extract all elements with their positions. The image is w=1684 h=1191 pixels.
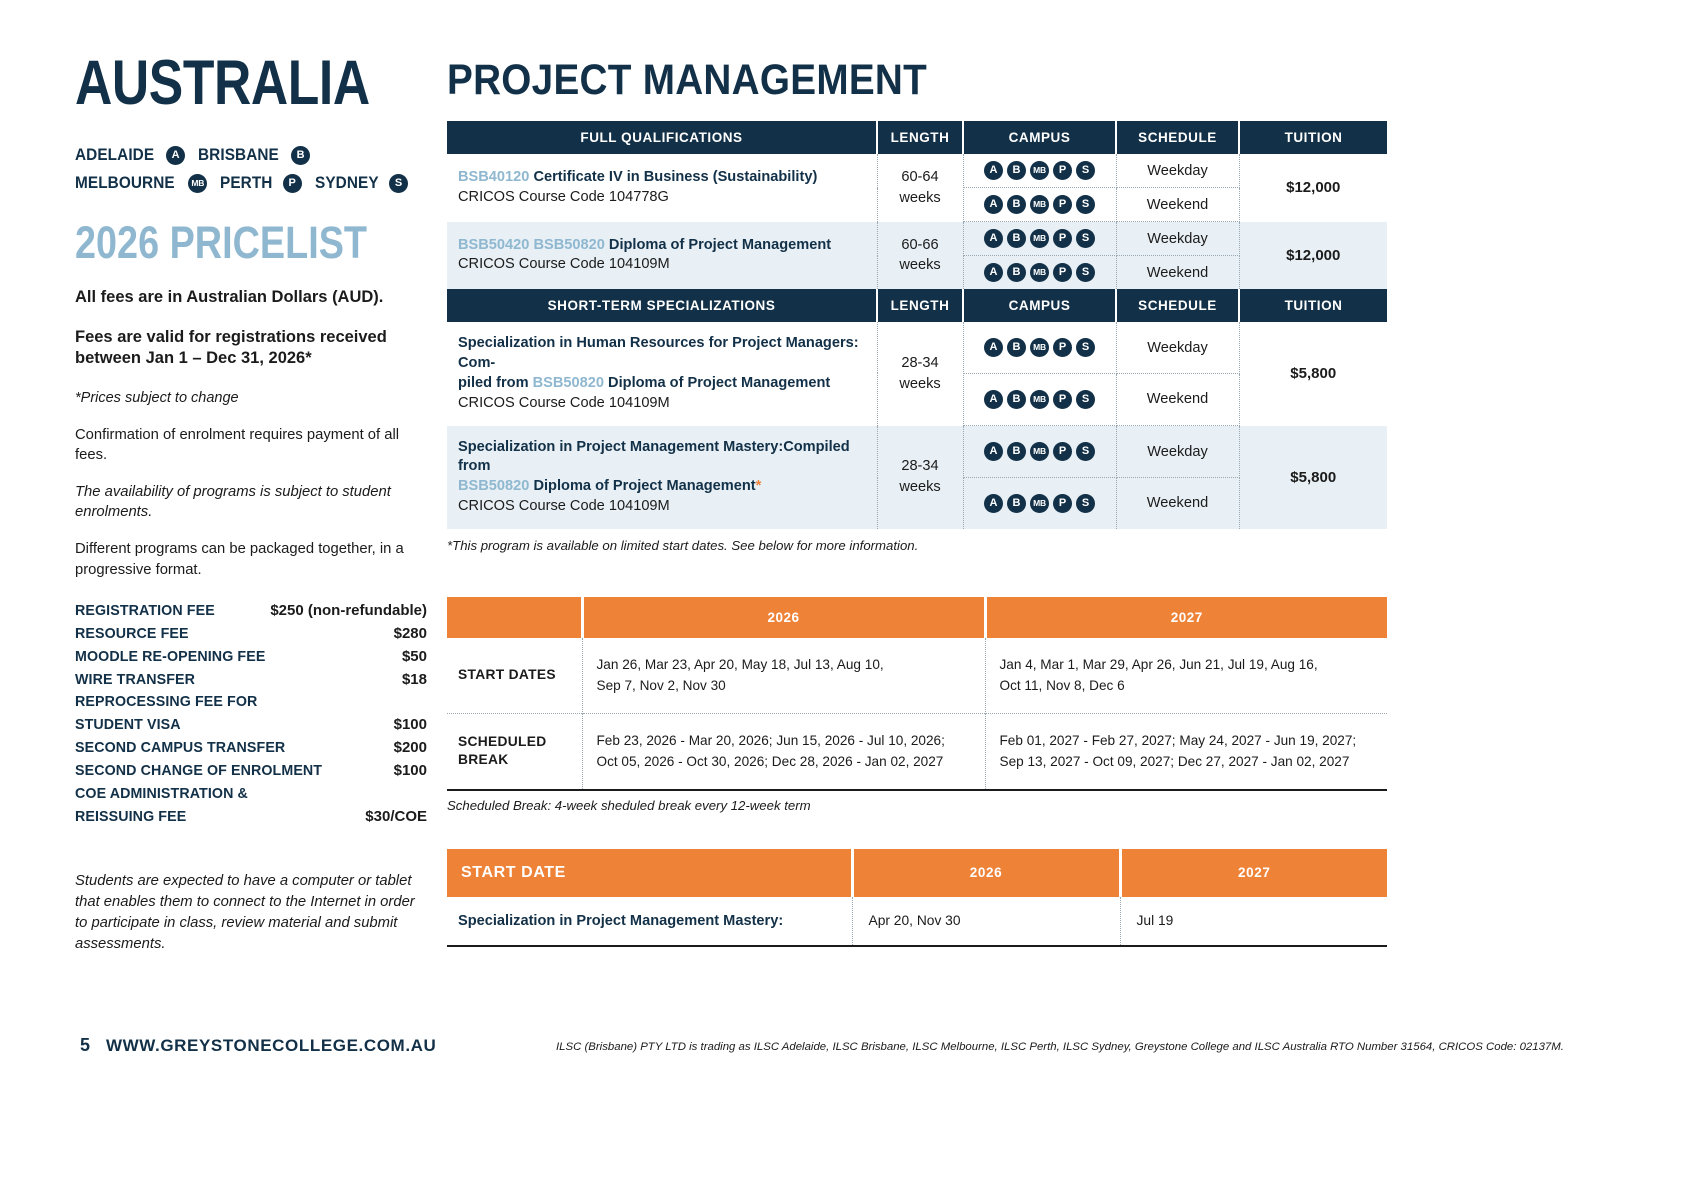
brisbane-badge-icon: B [1007,229,1026,248]
course-length-cell: 60-66 weeks [877,222,963,290]
brisbane-badge-icon: B [1007,442,1026,461]
date-line-1: Feb 01, 2027 - Feb 27, 2027; May 24, 202… [1000,730,1378,751]
spec-title-suffix: Diploma of Project Management [604,375,830,391]
course-length-cell: 60-64 weeks [877,154,963,222]
course-code: BSB50820 [458,478,529,494]
short-term-specializations-table: SHORT-TERM SPECIALIZATIONS LENGTH CAMPUS… [447,289,1387,529]
perth-badge-icon: P [1053,390,1072,409]
course-length-cell: 28-34 weeks [877,322,963,425]
table-row: BSB50420 BSB50820 Diploma of Project Man… [447,222,1387,256]
brisbane-badge-icon: B [1007,195,1026,214]
fee-row: COE ADMINISTRATION & [75,783,427,806]
adelaide-badge-icon: A [984,229,1003,248]
campus-cell: A B MB P S [963,426,1116,478]
table-header-row: FULL QUALIFICATIONS LENGTH CAMPUS SCHEDU… [447,121,1387,154]
adelaide-badge-icon: A [984,442,1003,461]
fee-row: STUDENT VISA $100 [75,714,427,737]
sydney-badge-icon: S [1076,161,1095,180]
course-code: BSB40120 [458,169,529,185]
melbourne-badge-icon: MB [1030,229,1049,248]
campus-badge-group: A B MB P S [968,195,1112,214]
scheduled-break-2026: Feb 23, 2026 - Mar 20, 2026; Jun 15, 202… [582,713,985,789]
fee-label: WIRE TRANSFER [75,669,195,692]
spec-title-line-2: BSB50820 Diploma of Project Management* [458,477,877,497]
adelaide-badge-icon: A [984,195,1003,214]
program-title: PROJECT MANAGEMENT [447,58,1293,103]
header-tuition: TUITION [1239,121,1387,154]
length-unit: weeks [878,477,963,498]
date-line-1: Jan 26, Mar 23, Apr 20, May 18, Jul 13, … [597,654,975,675]
currency-statement: All fees are in Australian Dollars (AUD)… [75,287,435,309]
startdate-header-2026: 2026 [852,849,1120,897]
fee-value: $100 [394,714,427,737]
perth-badge-icon: P [1053,161,1072,180]
cricos-code: CRICOS Course Code 104109M [458,394,877,414]
campus-cell: A B MB P S [963,222,1116,256]
table-row-scheduled-break: SCHEDULED BREAK Feb 23, 2026 - Mar 20, 2… [447,713,1387,789]
header-campus: CAMPUS [963,121,1116,154]
course-title-line: BSB40120 Certificate IV in Business (Sus… [458,168,877,188]
legal-disclaimer: ILSC (Brisbane) PTY LTD is trading as IL… [556,1040,1616,1055]
campus-badge-group: A B MB P S [968,442,1112,461]
scheduled-break-note: Scheduled Break: 4-week sheduled break e… [447,798,1387,813]
length-value: 28-34 [878,353,963,374]
spec-title-line-2: piled from BSB50820 Diploma of Project M… [458,374,877,394]
campus-badge-group: A B MB P S [968,390,1112,409]
perth-badge-icon: P [1053,442,1072,461]
pricelist-year-title: 2026 PRICELIST [75,220,377,265]
scheduled-break-2027: Feb 01, 2027 - Feb 27, 2027; May 24, 202… [985,713,1387,789]
footer-left-group: 5 WWW.GREYSTONECOLLEGE.COM.AU [80,1035,436,1056]
melbourne-badge-icon: MB [1030,195,1049,214]
fee-label: COE ADMINISTRATION & [75,783,248,806]
header-length: LENGTH [877,289,963,322]
campus-badge-group: A B MB P S [968,338,1112,357]
campus-cell: A B MB P S [963,373,1116,425]
perth-badge-icon: P [1053,494,1072,513]
brisbane-badge-icon: B [1007,390,1026,409]
campus-cell: A B MB P S [963,256,1116,290]
length-value: 60-66 [878,235,963,256]
fee-row: WIRE TRANSFER $18 [75,669,427,692]
campus-badge-group: A B MB P S [968,263,1112,282]
course-code: BSB50420 BSB50820 [458,237,605,253]
fee-value: $100 [394,760,427,783]
length-unit: weeks [878,188,963,209]
campus-legend: ADELAIDE A BRISBANE B MELBOURNE MB PERTH… [75,141,435,198]
melbourne-badge-icon: MB [1030,494,1049,513]
row-label-line-1: START DATES [458,666,582,684]
campus-legend-sydney: SYDNEY S [315,169,408,197]
table-row: Specialization in Project Management Mas… [447,897,1387,946]
fee-row: REGISTRATION FEE $250 (non-refundable) [75,600,427,623]
course-code: BSB50820 [533,375,604,391]
row-label-scheduled-break: SCHEDULED BREAK [447,713,582,789]
date-line-2: Sep 7, Nov 2, Nov 30 [597,675,975,696]
enrolment-payment-note: Confirmation of enrolment requires payme… [75,425,435,465]
fee-label: SECOND CAMPUS TRANSFER [75,737,285,760]
length-unit: weeks [878,255,963,276]
tuition-cell: $12,000 [1239,222,1387,290]
course-title: Certificate IV in Business (Sustainabili… [533,169,817,185]
campus-legend-brisbane-label: BRISBANE [198,141,279,169]
mastery-dates-2027: Jul 19 [1120,897,1387,946]
date-line-2: Oct 11, Nov 8, Dec 6 [1000,675,1378,696]
campus-legend-adelaide-label: ADELAIDE [75,141,154,169]
cricos-code: CRICOS Course Code 104109M [458,255,877,275]
sydney-badge-icon: S [1076,442,1095,461]
spec-title-prefix: piled from [458,375,533,391]
length-unit: weeks [878,374,963,395]
course-name-cell: Specialization in Human Resources for Pr… [447,322,877,425]
cricos-code: CRICOS Course Code 104778G [458,188,877,208]
campus-legend-brisbane: BRISBANE B [198,141,310,169]
page-title-country: AUSTRALIA [75,52,370,115]
melbourne-badge-icon: MB [1030,390,1049,409]
computer-requirement-note: Students are expected to have a computer… [75,871,415,955]
campus-legend-adelaide: ADELAIDE A [75,141,185,169]
fee-row: MOODLE RE-OPENING FEE $50 [75,646,427,669]
schedule-cell: Weekday [1116,222,1239,256]
availability-note: The availability of programs is subject … [75,482,435,522]
campus-legend-row-1: ADELAIDE A BRISBANE B [75,141,435,169]
row-label-start-dates: START DATES [447,638,582,713]
spec-title-line-1: Specialization in Project Management Mas… [458,438,877,478]
spec-title-suffix: Diploma of Project Management [529,478,755,494]
fee-label: RESOURCE FEE [75,623,189,646]
adelaide-badge-icon: A [984,338,1003,357]
melbourne-badge-icon: MB [1030,263,1049,282]
sydney-badge-icon: S [1076,338,1095,357]
startdate-header-row: START DATE 2026 2027 [447,849,1387,897]
limited-start-dates-note: *This program is available on limited st… [447,538,1387,553]
mastery-program-name: Specialization in Project Management Mas… [447,897,852,946]
fee-value: $30/COE [365,806,427,829]
startdate-header-label: START DATE [447,849,852,897]
tuition-cell: $5,800 [1239,322,1387,425]
perth-badge-icon: P [1053,229,1072,248]
fee-value: $50 [402,646,427,669]
fee-row: RESOURCE FEE $280 [75,623,427,646]
course-title-line: BSB50420 BSB50820 Diploma of Project Man… [458,236,877,256]
adelaide-badge-icon: A [984,263,1003,282]
cricos-code: CRICOS Course Code 104109M [458,497,877,517]
left-sidebar: AUSTRALIA ADELAIDE A BRISBANE B MELBOURN… [75,52,435,955]
table-row: Specialization in Human Resources for Pr… [447,322,1387,373]
campus-badge-group: A B MB P S [968,494,1112,513]
validity-statement: Fees are valid for registrations receive… [75,327,435,371]
brisbane-badge-icon: B [1007,494,1026,513]
fees-list: REGISTRATION FEE $250 (non-refundable) R… [75,600,427,829]
prices-subject-note: *Prices subject to change [75,388,435,408]
campus-legend-sydney-label: SYDNEY [315,169,379,197]
dates-header-blank [447,597,582,638]
table-header-row: SHORT-TERM SPECIALIZATIONS LENGTH CAMPUS… [447,289,1387,322]
spec-title-line-1: Specialization in Human Resources for Pr… [458,334,877,374]
fee-label: MOODLE RE-OPENING FEE [75,646,265,669]
campus-legend-perth-label: PERTH [220,169,272,197]
row-label-line-1: SCHEDULED [458,733,582,751]
full-qualifications-table: FULL QUALIFICATIONS LENGTH CAMPUS SCHEDU… [447,121,1387,289]
main-content: PROJECT MANAGEMENT FULL QUALIFICATIONS L… [447,58,1387,947]
start-dates-2026: Jan 26, Mar 23, Apr 20, May 18, Jul 13, … [582,638,985,713]
fee-value: $250 (non-refundable) [270,600,427,623]
campus-legend-melbourne: MELBOURNE MB [75,169,207,197]
date-line-1: Feb 23, 2026 - Mar 20, 2026; Jun 15, 202… [597,730,975,751]
sydney-badge-icon: S [389,174,408,193]
course-name-cell: Specialization in Project Management Mas… [447,426,877,529]
fee-label: STUDENT VISA [75,714,181,737]
packaging-note: Different programs can be packaged toget… [75,539,435,579]
fee-row: REISSUING FEE $30/COE [75,806,427,829]
fee-value: $18 [402,669,427,692]
fee-label: REGISTRATION FEE [75,600,215,623]
mastery-dates-2026: Apr 20, Nov 30 [852,897,1120,946]
dates-header-row: 2026 2027 [447,597,1387,638]
table-row: Specialization in Project Management Mas… [447,426,1387,478]
tuition-cell: $5,800 [1239,426,1387,529]
dates-header-2027: 2027 [985,597,1387,638]
brisbane-badge-icon: B [291,146,310,165]
melbourne-badge-icon: MB [1030,161,1049,180]
start-dates-and-breaks-table: 2026 2027 START DATES Jan 26, Mar 23, Ap… [447,597,1387,791]
schedule-cell: Weekend [1116,188,1239,222]
fee-label: REPROCESSING FEE FOR [75,691,257,714]
fee-label: SECOND CHANGE OF ENROLMENT [75,760,322,783]
perth-badge-icon: P [283,174,302,193]
dates-header-2026: 2026 [582,597,985,638]
sydney-badge-icon: S [1076,195,1095,214]
adelaide-badge-icon: A [984,494,1003,513]
adelaide-badge-icon: A [984,390,1003,409]
campus-cell: A B MB P S [963,188,1116,222]
fee-value: $200 [394,737,427,760]
sydney-badge-icon: S [1076,263,1095,282]
limited-dates-asterisk: * [756,478,762,494]
fee-label: REISSUING FEE [75,806,186,829]
brisbane-badge-icon: B [1007,338,1026,357]
fee-row: SECOND CAMPUS TRANSFER $200 [75,737,427,760]
melbourne-badge-icon: MB [1030,338,1049,357]
date-line-2: Oct 05, 2026 - Oct 30, 2026; Dec 28, 202… [597,751,975,772]
header-tuition: TUITION [1239,289,1387,322]
page-number: 5 [80,1035,90,1056]
pricelist-page: AUSTRALIA ADELAIDE A BRISBANE B MELBOURN… [0,0,1684,1191]
website-url[interactable]: WWW.GREYSTONECOLLEGE.COM.AU [106,1036,436,1056]
sydney-badge-icon: S [1076,229,1095,248]
campus-badge-group: A B MB P S [968,161,1112,180]
header-schedule: SCHEDULE [1116,121,1239,154]
brisbane-badge-icon: B [1007,263,1026,282]
campus-legend-row-2: MELBOURNE MB PERTH P SYDNEY S [75,169,435,197]
melbourne-badge-icon: MB [1030,442,1049,461]
start-dates-2027: Jan 4, Mar 1, Mar 29, Apr 26, Jun 21, Ju… [985,638,1387,713]
table-row: BSB40120 Certificate IV in Business (Sus… [447,154,1387,188]
course-title: Diploma of Project Management [609,237,831,253]
campus-badge-group: A B MB P S [968,229,1112,248]
fee-row: SECOND CHANGE OF ENROLMENT $100 [75,760,427,783]
adelaide-badge-icon: A [984,161,1003,180]
schedule-cell: Weekday [1116,322,1239,373]
sydney-badge-icon: S [1076,494,1095,513]
perth-badge-icon: P [1053,338,1072,357]
schedule-cell: Weekend [1116,256,1239,290]
schedule-cell: Weekend [1116,478,1239,529]
header-campus: CAMPUS [963,289,1116,322]
schedule-cell: Weekday [1116,154,1239,188]
fee-row: REPROCESSING FEE FOR [75,691,427,714]
sydney-badge-icon: S [1076,390,1095,409]
perth-badge-icon: P [1053,195,1072,214]
campus-legend-perth: PERTH P [220,169,301,197]
campus-cell: A B MB P S [963,478,1116,529]
header-length: LENGTH [877,121,963,154]
header-short-term-specializations: SHORT-TERM SPECIALIZATIONS [447,289,877,322]
perth-badge-icon: P [1053,263,1072,282]
header-full-qualifications: FULL QUALIFICATIONS [447,121,877,154]
campus-cell: A B MB P S [963,322,1116,373]
schedule-cell: Weekend [1116,373,1239,425]
mastery-start-date-table: START DATE 2026 2027 Specialization in P… [447,849,1387,947]
header-schedule: SCHEDULE [1116,289,1239,322]
date-line-2: Sep 13, 2027 - Oct 09, 2027; Dec 27, 202… [1000,751,1378,772]
fee-value: $280 [394,623,427,646]
length-value: 28-34 [878,456,963,477]
campus-legend-melbourne-label: MELBOURNE [75,169,175,197]
course-name-cell: BSB40120 Certificate IV in Business (Sus… [447,154,877,222]
table-row-start-dates: START DATES Jan 26, Mar 23, Apr 20, May … [447,638,1387,713]
schedule-cell: Weekday [1116,426,1239,478]
startdate-header-2027: 2027 [1120,849,1387,897]
date-line-1: Jan 4, Mar 1, Mar 29, Apr 26, Jun 21, Ju… [1000,654,1378,675]
brisbane-badge-icon: B [1007,161,1026,180]
adelaide-badge-icon: A [166,146,185,165]
course-name-cell: BSB50420 BSB50820 Diploma of Project Man… [447,222,877,290]
length-value: 60-64 [878,167,963,188]
row-label-line-2: BREAK [458,751,582,769]
melbourne-badge-icon: MB [188,174,207,193]
tuition-cell: $12,000 [1239,154,1387,222]
campus-cell: A B MB P S [963,154,1116,188]
course-length-cell: 28-34 weeks [877,426,963,529]
